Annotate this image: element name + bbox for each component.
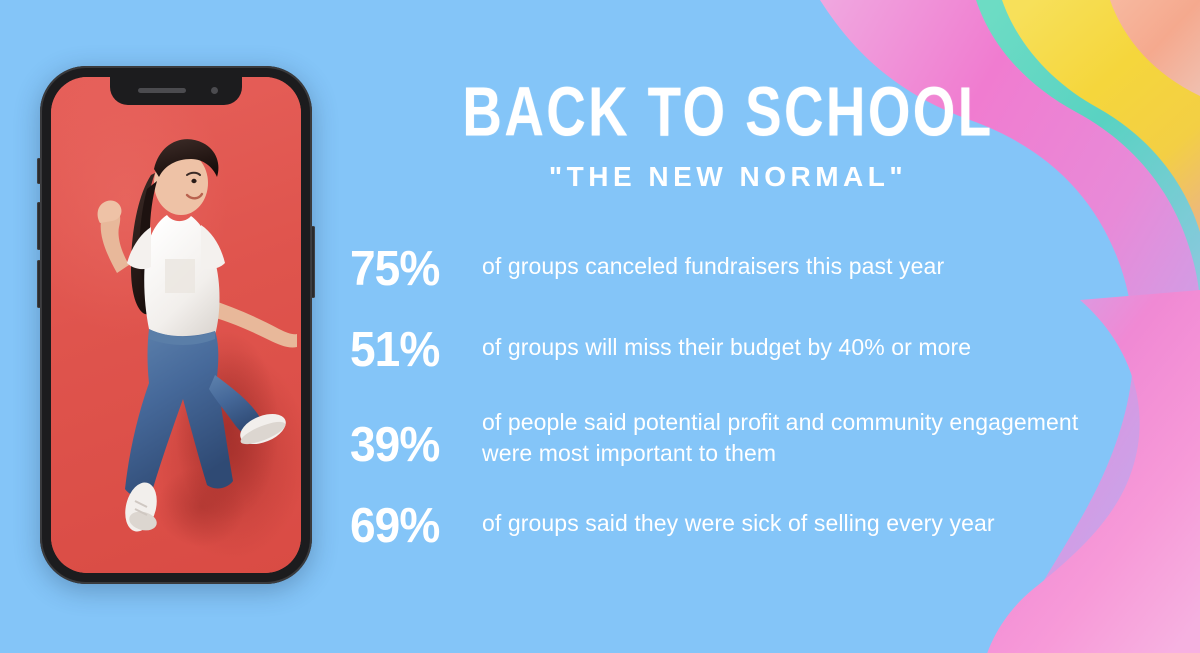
silent-switch[interactable] xyxy=(37,158,41,184)
phone-notch xyxy=(110,77,242,105)
infographic-canvas: BACK TO SCHOOL "THE NEW NORMAL" 75% of g… xyxy=(0,0,1200,653)
phone-speaker-grille xyxy=(138,88,186,93)
page-subtitle: "THE NEW NORMAL" xyxy=(348,161,1108,193)
title-block: BACK TO SCHOOL "THE NEW NORMAL" xyxy=(348,0,1108,193)
content-column: BACK TO SCHOOL "THE NEW NORMAL" 75% of g… xyxy=(348,0,1108,653)
stat-description: of groups will miss their budget by 40% … xyxy=(482,326,1108,363)
power-button[interactable] xyxy=(311,226,315,298)
page-title: BACK TO SCHOOL xyxy=(363,78,1093,148)
stat-row: 75% of groups canceled fundraisers this … xyxy=(350,245,1108,294)
stat-description: of groups said they were sick of selling… xyxy=(482,502,1108,539)
stat-row: 69% of groups said they were sick of sel… xyxy=(350,502,1108,551)
volume-up-button[interactable] xyxy=(37,202,41,250)
stat-percent: 39% xyxy=(350,407,474,470)
stat-description: of groups canceled fundraisers this past… xyxy=(482,245,1108,282)
phone-front-camera xyxy=(211,87,218,94)
volume-down-button[interactable] xyxy=(37,260,41,308)
stat-percent: 69% xyxy=(350,502,474,551)
stat-description: of people said potential profit and comm… xyxy=(482,407,1108,469)
phone-screen xyxy=(51,77,301,573)
stat-percent: 51% xyxy=(350,326,474,375)
stat-row: 39% of people said potential profit and … xyxy=(350,407,1108,470)
phone-mockup xyxy=(40,66,312,584)
statistics-list: 75% of groups canceled fundraisers this … xyxy=(348,245,1108,551)
wave-band-salmon xyxy=(1110,0,1200,96)
jumping-woman-photo xyxy=(51,77,301,573)
stat-row: 51% of groups will miss their budget by … xyxy=(350,326,1108,375)
stat-percent: 75% xyxy=(350,245,474,294)
